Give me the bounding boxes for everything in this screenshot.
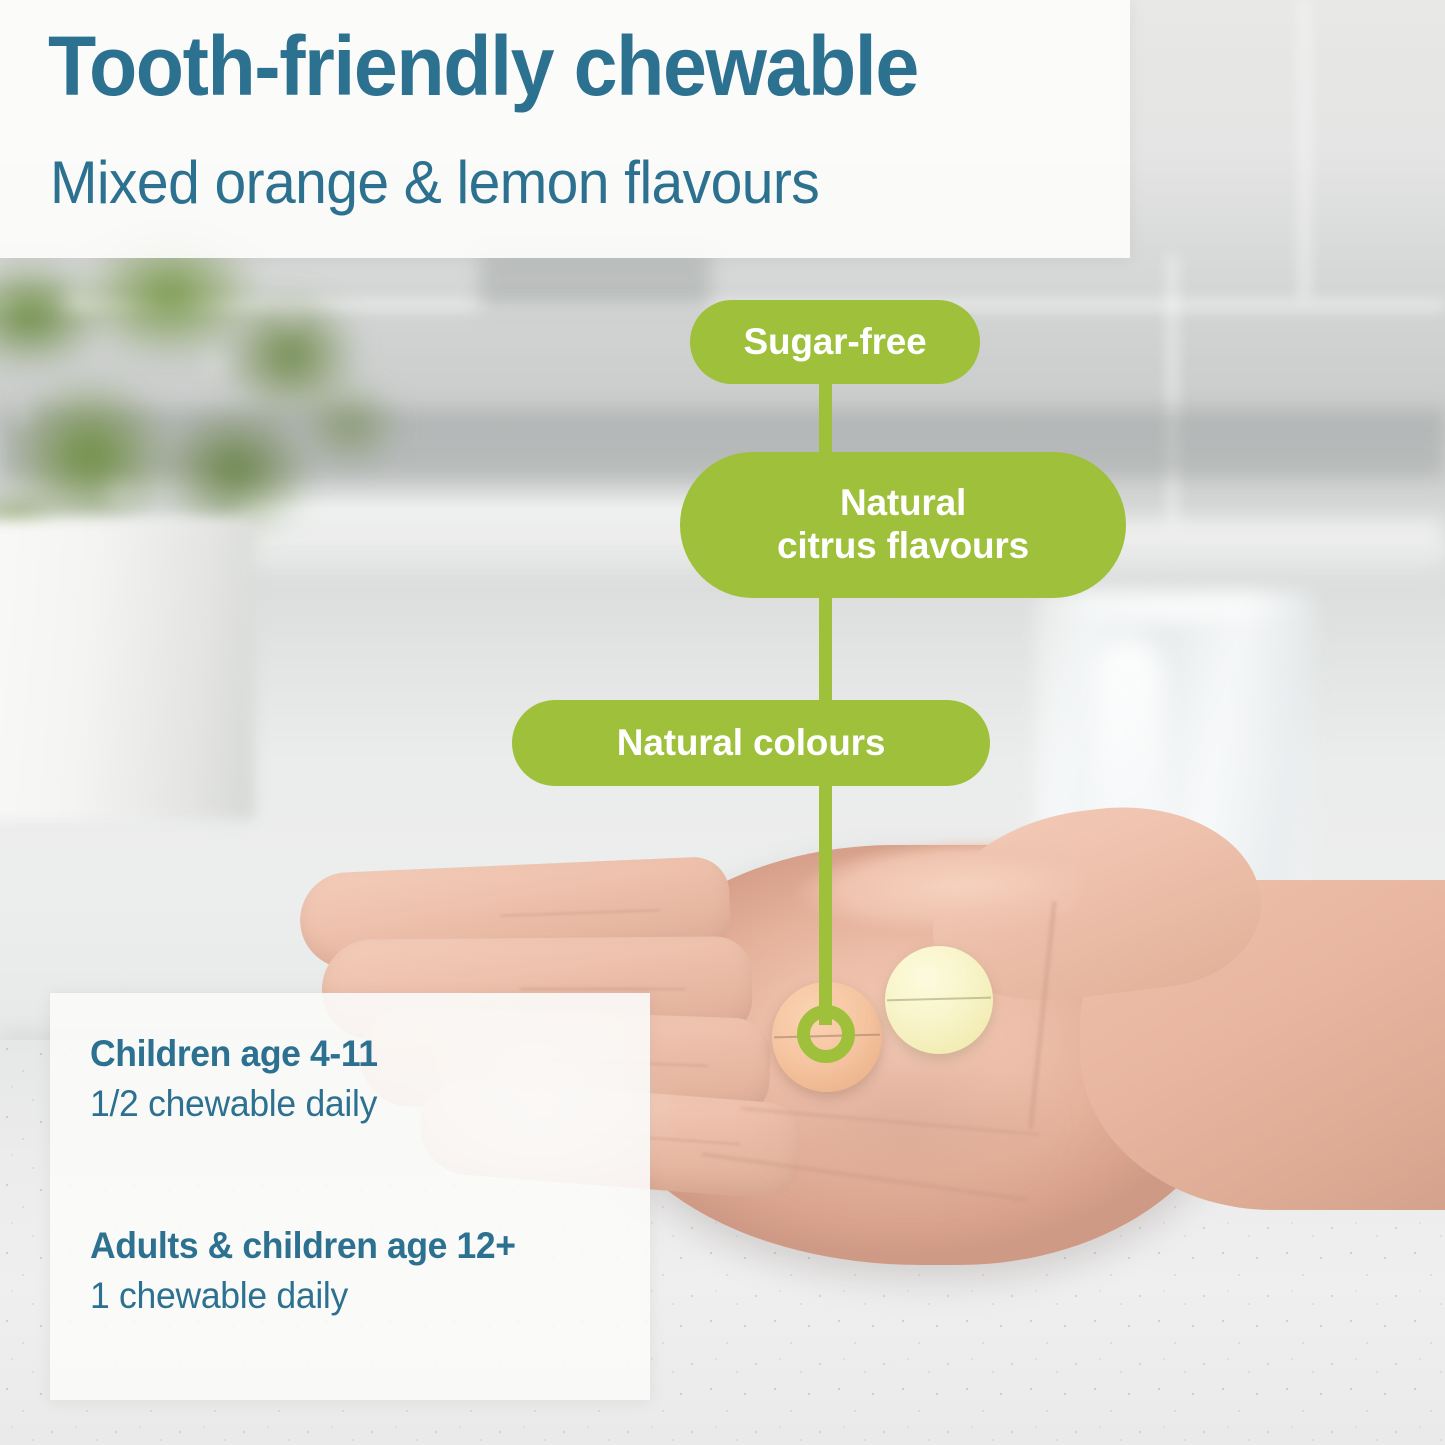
connector-line-segment	[819, 580, 832, 710]
badge-label: Natural colours	[617, 722, 885, 765]
page-subtitle: Mixed orange & lemon flavours	[50, 148, 819, 217]
dosage-group-children: Children age 4-11 1/2 chewable daily	[90, 1033, 390, 1125]
tablet-ring-marker-icon	[797, 1005, 855, 1063]
badge-label-line-1: Natural	[840, 482, 966, 523]
badge-natural-colours: Natural colours	[512, 700, 990, 786]
infographic-canvas: Sugar-free Natural citrus flavours Natur…	[0, 0, 1445, 1445]
dosage-panel: Children age 4-11 1/2 chewable daily Adu…	[50, 993, 650, 1400]
dosage-heading: Adults & children age 12+	[90, 1225, 516, 1267]
badge-label: Natural citrus flavours	[777, 482, 1029, 568]
dosage-instruction: 1 chewable daily	[90, 1275, 516, 1317]
palm-shadow	[690, 1010, 1120, 1240]
badge-sugar-free: Sugar-free	[690, 300, 980, 384]
dosage-group-adults: Adults & children age 12+ 1 chewable dai…	[90, 1225, 533, 1317]
badge-label: Sugar-free	[743, 321, 926, 364]
connector-line-segment	[819, 770, 832, 1025]
page-title: Tooth-friendly chewable	[48, 18, 918, 115]
badge-label-line-2: citrus flavours	[777, 525, 1029, 566]
badge-natural-citrus-flavours: Natural citrus flavours	[680, 452, 1126, 598]
header-panel: Tooth-friendly chewable Mixed orange & l…	[0, 0, 1130, 258]
dosage-instruction: 1/2 chewable daily	[90, 1083, 378, 1125]
dosage-heading: Children age 4-11	[90, 1033, 378, 1075]
